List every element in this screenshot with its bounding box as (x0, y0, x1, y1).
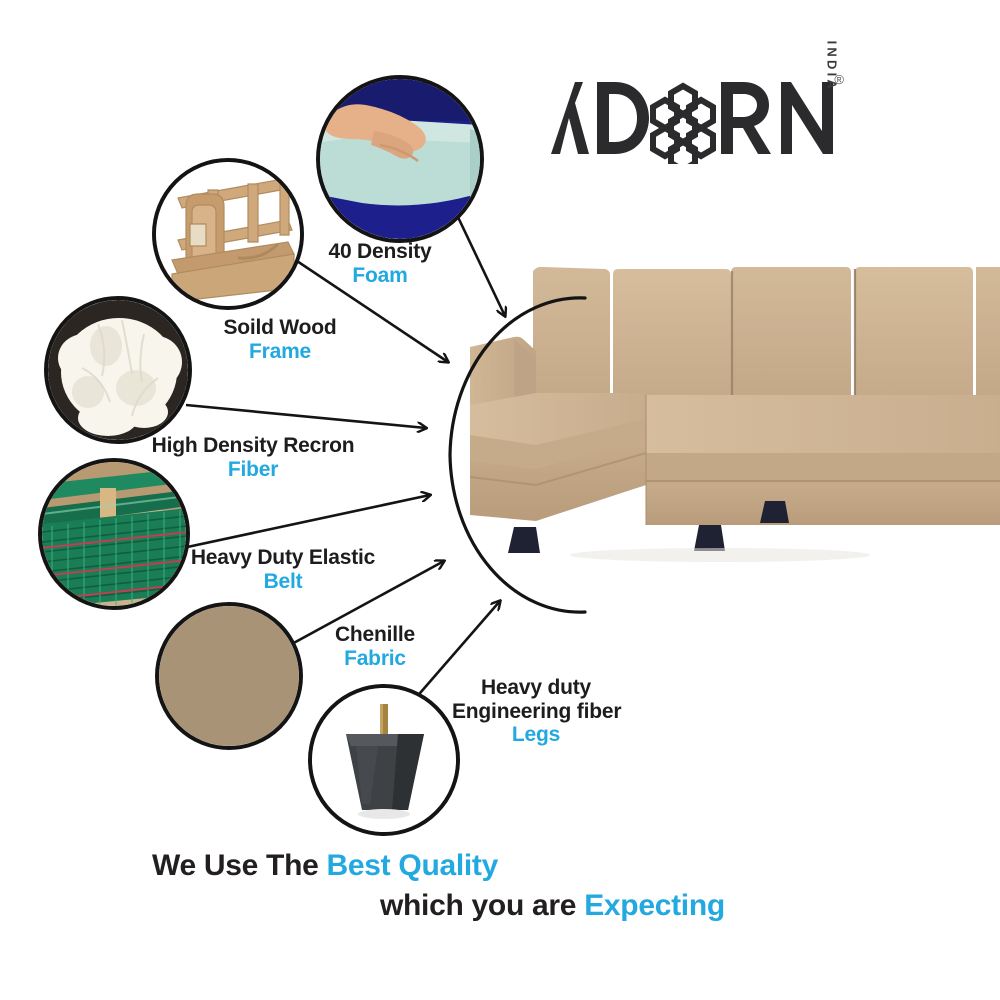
tagline-line-2: which you are Expecting (380, 889, 725, 923)
feature-label-belt: Heavy Duty Elastic Belt (190, 546, 376, 593)
chenille-swatch-icon (159, 606, 299, 746)
feature-thumb-fiber[interactable] (44, 296, 192, 444)
recron-fiber-icon (48, 300, 188, 440)
feature-label-foam: 40 Density Foam (310, 240, 450, 287)
tagline-line-1: We Use The Best Quality (152, 849, 498, 883)
infographic-canvas: INDIA ® (0, 0, 1000, 1000)
feature-thumb-belt[interactable] (38, 458, 190, 610)
sofa-leg-icon (312, 688, 456, 832)
arrow-belt (178, 495, 430, 549)
arrow-fiber (186, 405, 426, 428)
arrow-foam (457, 215, 505, 316)
feature-label-legs: Heavy duty Engineering fiber Legs (452, 676, 620, 747)
feature-thumb-fabric[interactable] (155, 602, 303, 750)
feature-thumb-legs[interactable] (308, 684, 460, 836)
foam-block-icon (320, 79, 480, 239)
feature-thumb-frame[interactable] (152, 158, 304, 310)
feature-label-fabric: Chenille Fabric (316, 623, 434, 670)
elastic-webbing-icon (42, 462, 186, 606)
feature-thumb-foam[interactable] (316, 75, 484, 243)
feature-label-frame: Soild Wood Frame (212, 316, 348, 363)
center-arc (450, 298, 585, 612)
feature-label-fiber: High Density Recron Fiber (146, 434, 360, 481)
wood-frame-icon (156, 162, 300, 306)
